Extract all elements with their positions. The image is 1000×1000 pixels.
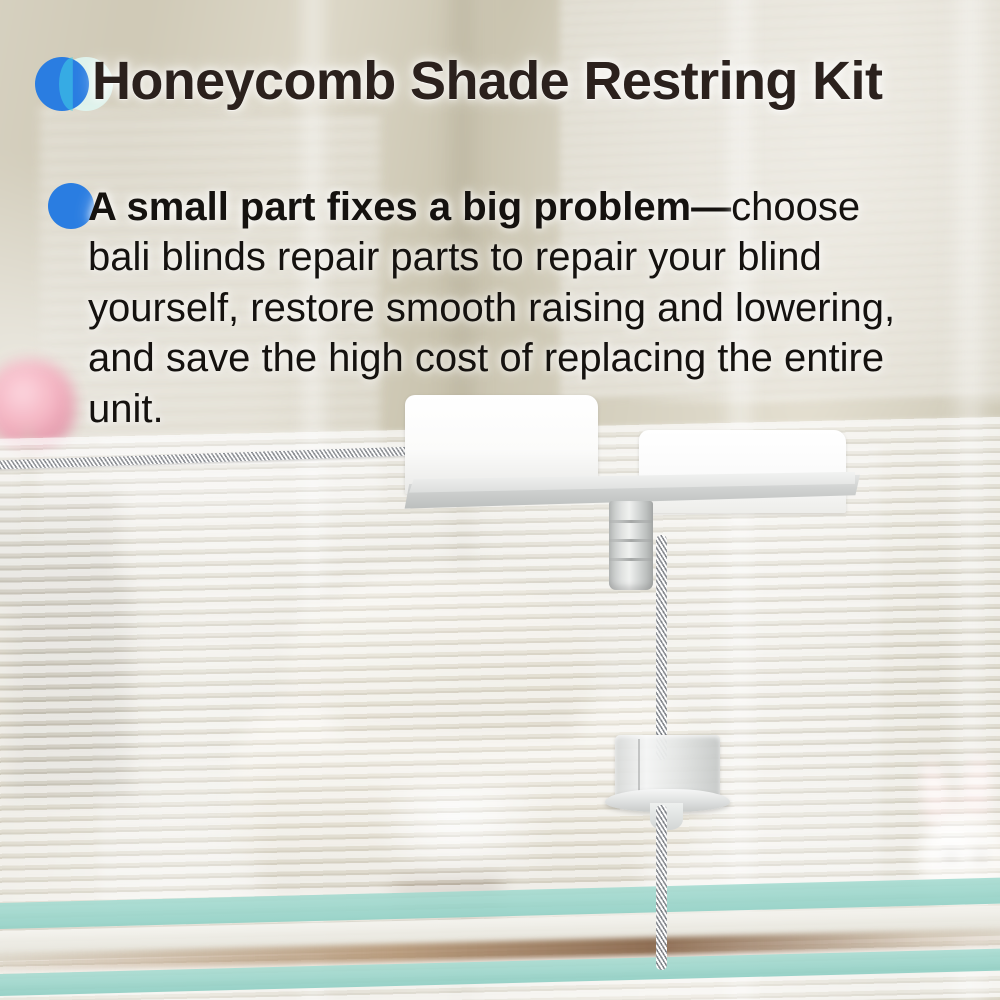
- bracket-tab-right: [639, 430, 846, 513]
- feature-description: A small part fixes a big problem—choose …: [88, 182, 928, 434]
- bracket-cord-grommet: [609, 501, 653, 591]
- grommet-ring-3: [609, 558, 653, 561]
- cord-stop-tassel: [605, 735, 730, 825]
- feature-lead-text: A small part fixes a big problem—: [88, 185, 731, 229]
- braided-lift-cord-upper: [656, 535, 667, 760]
- grommet-ring-2: [609, 539, 653, 542]
- page-title: Honeycomb Shade Restring Kit: [92, 54, 972, 109]
- grommet-ring-1: [609, 520, 653, 523]
- braided-lift-cord-lower: [656, 805, 667, 970]
- product-marketing-image: Honeycomb Shade Restring Kit A small par…: [0, 0, 1000, 1000]
